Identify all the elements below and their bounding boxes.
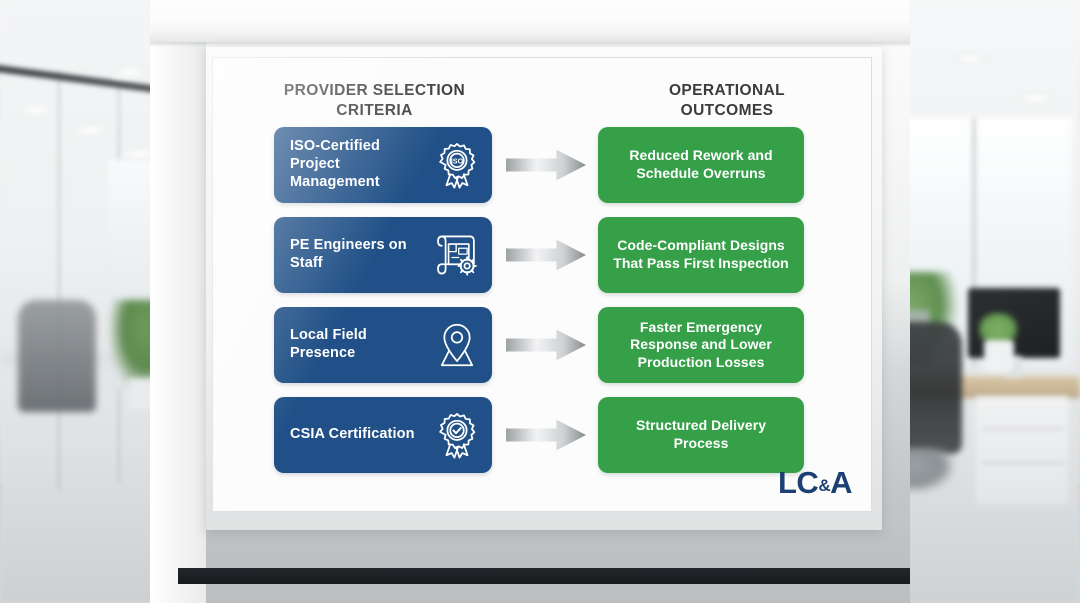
left-column-header-line1: PROVIDER SELECTION (222, 81, 527, 101)
criteria-card-csia[interactable]: CSIA Certification (274, 397, 492, 473)
infographic: PROVIDER SELECTION CRITERIA OPERATIONAL … (212, 57, 872, 512)
right-arrow-icon (506, 148, 586, 182)
outcome-label: Faster Emergency Response and Lower Prod… (608, 319, 794, 372)
criteria-outcome-rows: ISO-Certified Project Management ISO (212, 125, 872, 485)
logo-ampersand: & (818, 476, 830, 495)
table-row: ISO-Certified Project Management ISO (212, 125, 872, 205)
criteria-card-iso[interactable]: ISO-Certified Project Management ISO (274, 127, 492, 203)
recessed-ceiling-light (18, 104, 54, 117)
right-arrow-icon (506, 418, 586, 452)
check-rosette-badge-icon (430, 408, 484, 462)
criteria-label: PE Engineers on Staff (290, 237, 430, 272)
recessed-ceiling-light (952, 52, 988, 65)
criteria-card-pe-engineers[interactable]: PE Engineers on Staff (274, 217, 492, 293)
criteria-card-local-field[interactable]: Local Field Presence (274, 307, 492, 383)
right-arrow-icon (506, 238, 586, 272)
criteria-label: CSIA Certification (290, 426, 430, 444)
logo-suffix: A (830, 465, 852, 500)
right-column-header-line2: OUTCOMES (602, 101, 852, 121)
map-pin-location-icon (430, 318, 484, 372)
recessed-ceiling-light (72, 124, 108, 137)
right-column-header: OPERATIONAL OUTCOMES (602, 81, 852, 122)
wall-lower-panel (206, 530, 910, 570)
outcome-card-1[interactable]: Reduced Rework and Schedule Overruns (598, 127, 804, 203)
blueprint-gear-icon (430, 228, 484, 282)
outcome-label: Code-Compliant Designs That Pass First I… (608, 237, 794, 272)
right-column-header-line1: OPERATIONAL (602, 81, 852, 101)
glass-mullion (58, 70, 60, 490)
table-row: CSIA Certification (212, 395, 872, 475)
recessed-ceiling-light (1018, 92, 1054, 105)
office-background-scene: PROVIDER SELECTION CRITERIA OPERATIONAL … (0, 0, 1080, 603)
criteria-label: Local Field Presence (290, 327, 430, 362)
right-arrow-icon (506, 328, 586, 362)
table-row: Local Field Presence (212, 305, 872, 385)
column-headers: PROVIDER SELECTION CRITERIA OPERATIONAL … (212, 81, 872, 122)
pedestal-drawer-line (982, 428, 1064, 430)
iso-certification-badge-icon: ISO (430, 138, 484, 192)
outcome-label: Reduced Rework and Schedule Overruns (608, 147, 794, 182)
pedestal-drawer-line (982, 462, 1064, 464)
left-column-header-line2: CRITERIA (222, 101, 527, 121)
left-column-header: PROVIDER SELECTION CRITERIA (222, 81, 527, 122)
criteria-label: ISO-Certified Project Management (290, 138, 430, 191)
outcome-card-3[interactable]: Faster Emergency Response and Lower Prod… (598, 307, 804, 383)
desk-plant-pot (984, 340, 1014, 372)
company-logo: LC&A (778, 467, 852, 498)
baseboard (178, 568, 910, 584)
storage-pedestal (976, 396, 1068, 504)
table-row: PE Engineers on Staff (212, 215, 872, 295)
svg-text:ISO: ISO (451, 157, 464, 165)
recessed-ceiling-light (112, 66, 148, 79)
outcome-label: Structured Delivery Process (608, 417, 794, 452)
wall-return-edge (150, 30, 206, 603)
logo-prefix: LC (778, 465, 818, 500)
wall-soffit (150, 16, 910, 42)
outcome-card-2[interactable]: Code-Compliant Designs That Pass First I… (598, 217, 804, 293)
office-chair-left (18, 300, 96, 412)
outcome-card-4[interactable]: Structured Delivery Process (598, 397, 804, 473)
